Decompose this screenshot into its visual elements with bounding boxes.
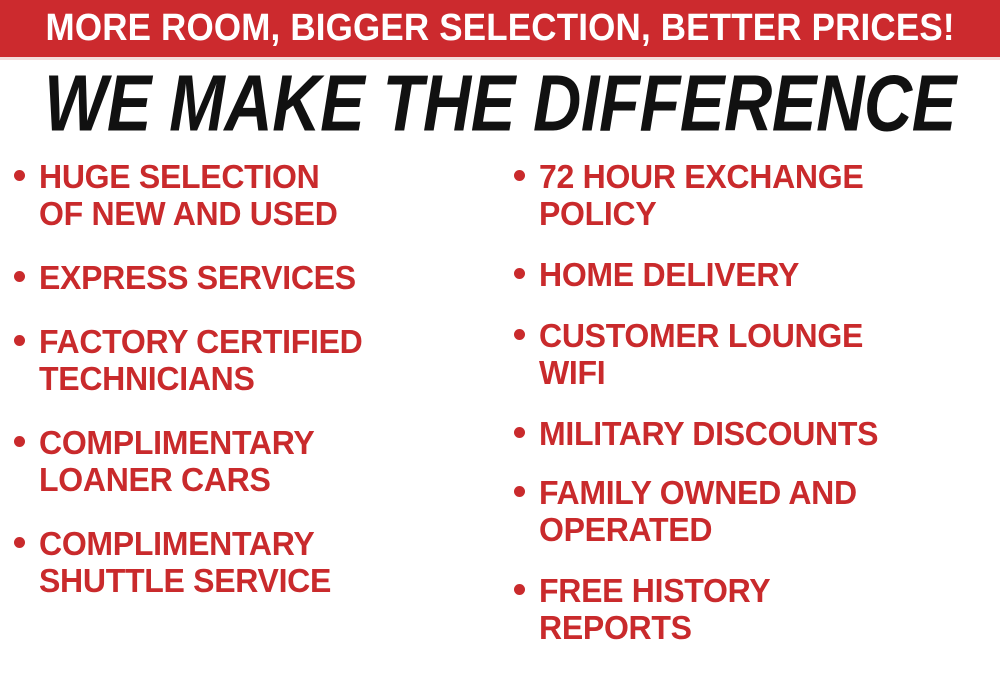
- list-item: 72 HOUR EXCHANGE POLICY: [514, 158, 1000, 232]
- promo-poster: MORE ROOM, BIGGER SELECTION, BETTER PRIC…: [0, 0, 1000, 694]
- top-banner: MORE ROOM, BIGGER SELECTION, BETTER PRIC…: [0, 0, 1000, 57]
- main-headline-container: WE MAKE THE DIFFERENCE: [0, 66, 1000, 142]
- list-item-label: 72 HOUR EXCHANGE POLICY: [539, 158, 986, 232]
- list-item-label: EXPRESS SERVICES: [39, 259, 486, 296]
- list-item-label: COMPLIMENTARY LOANER CARS: [39, 424, 486, 498]
- list-item: HUGE SELECTION OF NEW AND USED: [14, 158, 500, 232]
- bullet-dot-icon: [514, 268, 525, 279]
- list-item-label: HOME DELIVERY: [539, 256, 986, 293]
- list-item: FAMILY OWNED AND OPERATED: [514, 474, 1000, 548]
- list-item: MILITARY DISCOUNTS: [514, 415, 1000, 452]
- list-item-label: MILITARY DISCOUNTS: [539, 415, 986, 452]
- list-item: HOME DELIVERY: [514, 256, 1000, 293]
- list-item-label: HUGE SELECTION OF NEW AND USED: [39, 158, 486, 232]
- list-item-label: FREE HISTORY REPORTS: [539, 572, 986, 646]
- list-item: COMPLIMENTARY SHUTTLE SERVICE: [14, 525, 500, 599]
- list-item: CUSTOMER LOUNGE WIFI: [514, 317, 1000, 391]
- benefits-column-right: 72 HOUR EXCHANGE POLICY HOME DELIVERY CU…: [514, 158, 1000, 670]
- list-item: FREE HISTORY REPORTS: [514, 572, 1000, 646]
- bullet-dot-icon: [14, 436, 25, 447]
- bullet-dot-icon: [514, 170, 525, 181]
- list-item: EXPRESS SERVICES: [14, 259, 500, 296]
- bullet-dot-icon: [514, 329, 525, 340]
- list-item: FACTORY CERTIFIED TECHNICIANS: [14, 323, 500, 397]
- benefits-columns: HUGE SELECTION OF NEW AND USED EXPRESS S…: [0, 158, 1000, 694]
- bullet-dot-icon: [514, 486, 525, 497]
- bullet-dot-icon: [514, 427, 525, 438]
- list-item-label: COMPLIMENTARY SHUTTLE SERVICE: [39, 525, 486, 599]
- bullet-dot-icon: [14, 537, 25, 548]
- list-item-label: CUSTOMER LOUNGE WIFI: [539, 317, 986, 391]
- banner-headline: MORE ROOM, BIGGER SELECTION, BETTER PRIC…: [45, 9, 954, 49]
- bullet-dot-icon: [14, 170, 25, 181]
- list-item-label: FACTORY CERTIFIED TECHNICIANS: [39, 323, 486, 397]
- list-item: COMPLIMENTARY LOANER CARS: [14, 424, 500, 498]
- benefits-column-left: HUGE SELECTION OF NEW AND USED EXPRESS S…: [14, 158, 500, 626]
- bullet-dot-icon: [514, 584, 525, 595]
- list-item-label: FAMILY OWNED AND OPERATED: [539, 474, 986, 548]
- bullet-dot-icon: [14, 271, 25, 282]
- page-title: WE MAKE THE DIFFERENCE: [44, 64, 956, 144]
- bullet-dot-icon: [14, 335, 25, 346]
